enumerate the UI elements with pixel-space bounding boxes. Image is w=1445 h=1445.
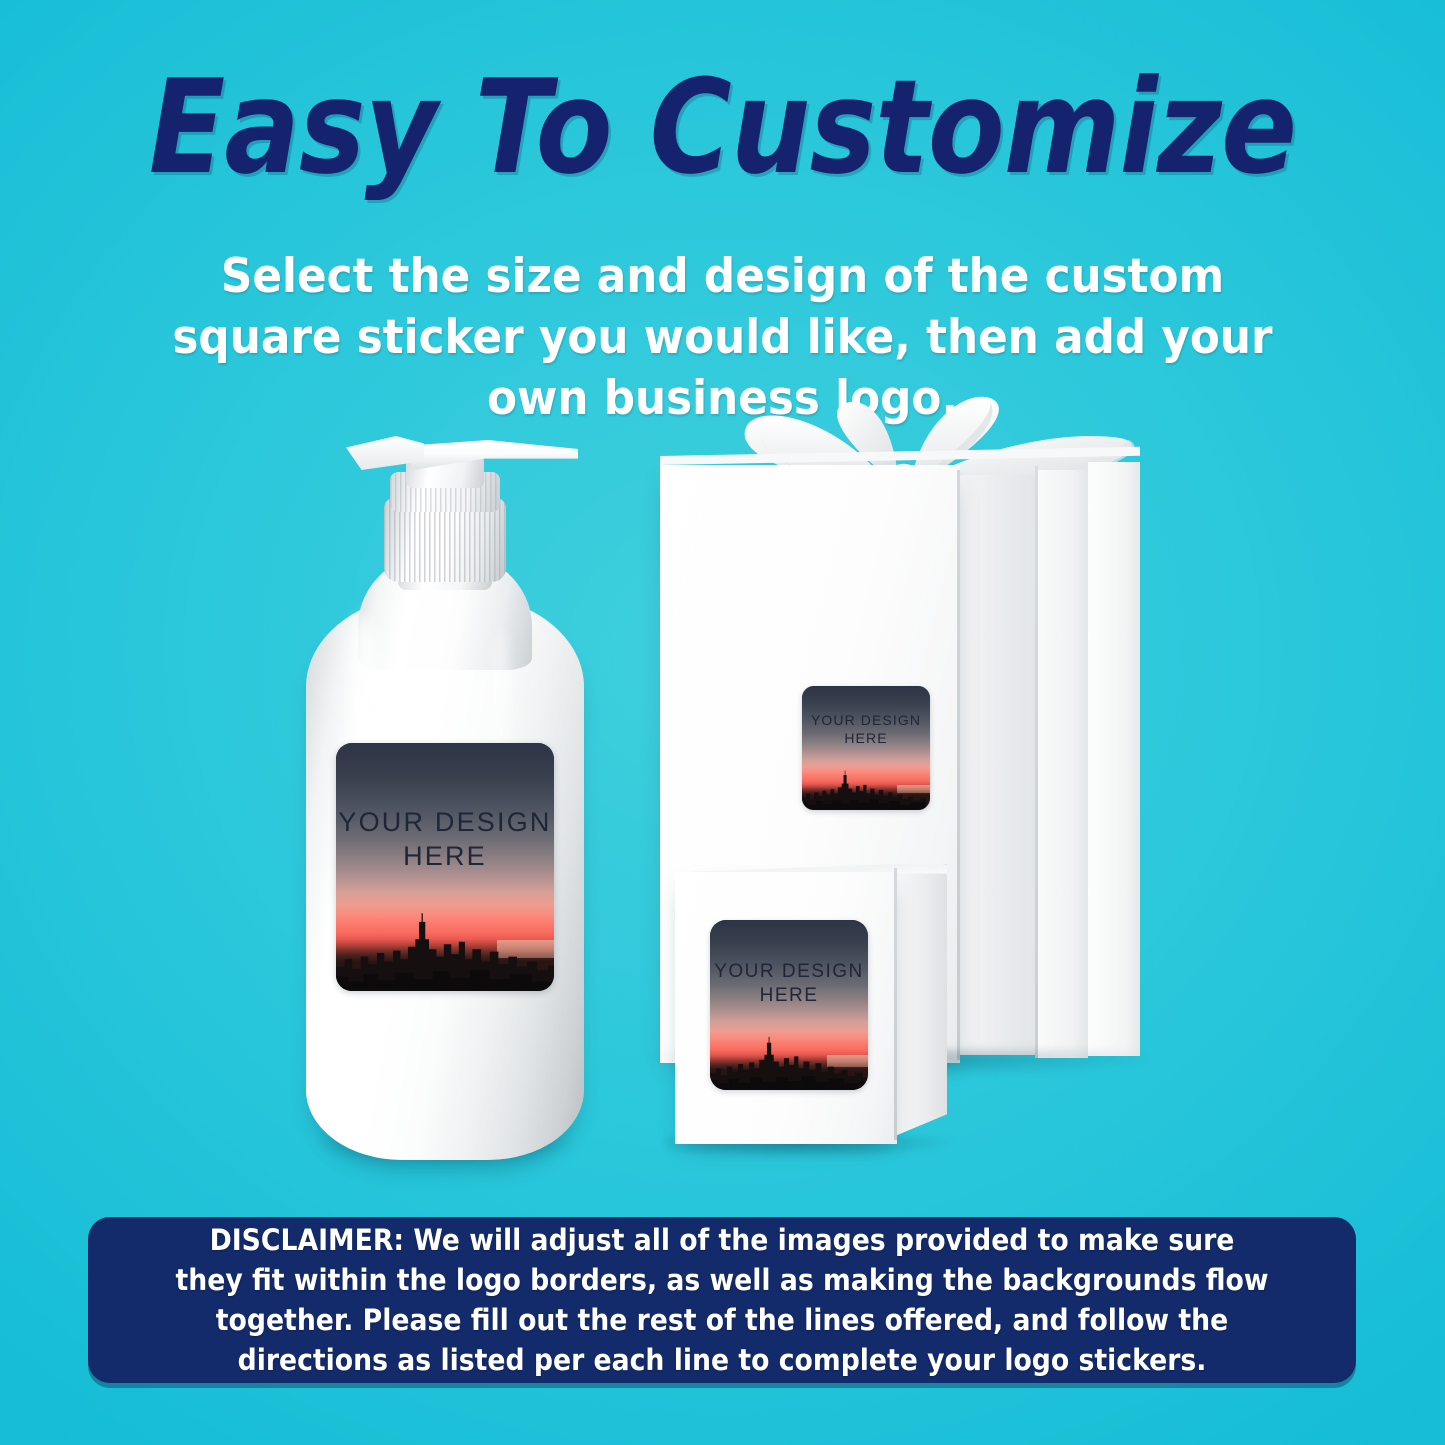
product-pump-bottle: YOUR DESIGN HERE bbox=[300, 430, 590, 1160]
city-skyline-icon bbox=[802, 770, 926, 810]
gift-box-side-panel bbox=[958, 475, 1036, 1055]
sticker-design-text: YOUR DESIGN HERE bbox=[336, 805, 554, 873]
cube-box-edge bbox=[894, 868, 897, 1140]
promo-banner: Easy To Customize Select the size and de… bbox=[0, 0, 1445, 1445]
sticker-on-cube-box[interactable]: YOUR DESIGN HERE bbox=[710, 920, 868, 1090]
city-skyline-icon bbox=[710, 1036, 868, 1090]
bottle-pump-nozzle bbox=[412, 440, 578, 470]
city-skyline-icon bbox=[336, 912, 554, 991]
gift-box-mid-panel bbox=[1036, 470, 1088, 1058]
gift-box-back-panel bbox=[1088, 462, 1140, 1056]
disclaimer-text: DISCLAIMER: We will adjust all of the im… bbox=[172, 1220, 1272, 1380]
sticker-design-text: YOUR DESIGN HERE bbox=[710, 960, 868, 1008]
product-cube-box: YOUR DESIGN HERE bbox=[665, 858, 965, 1158]
cube-box-side-panel bbox=[895, 864, 947, 1136]
disclaimer-box: DISCLAIMER: We will adjust all of the im… bbox=[88, 1217, 1356, 1383]
disclaimer-label: DISCLAIMER: bbox=[210, 1223, 404, 1257]
gift-box-seam-2 bbox=[1035, 466, 1038, 1058]
sticker-design-text: YOUR DESIGN HERE bbox=[802, 712, 930, 747]
sticker-on-gift-box[interactable]: YOUR DESIGN HERE bbox=[802, 686, 930, 810]
sticker-on-bottle[interactable]: YOUR DESIGN HERE bbox=[336, 743, 554, 991]
page-title: Easy To Customize bbox=[101, 62, 1344, 192]
